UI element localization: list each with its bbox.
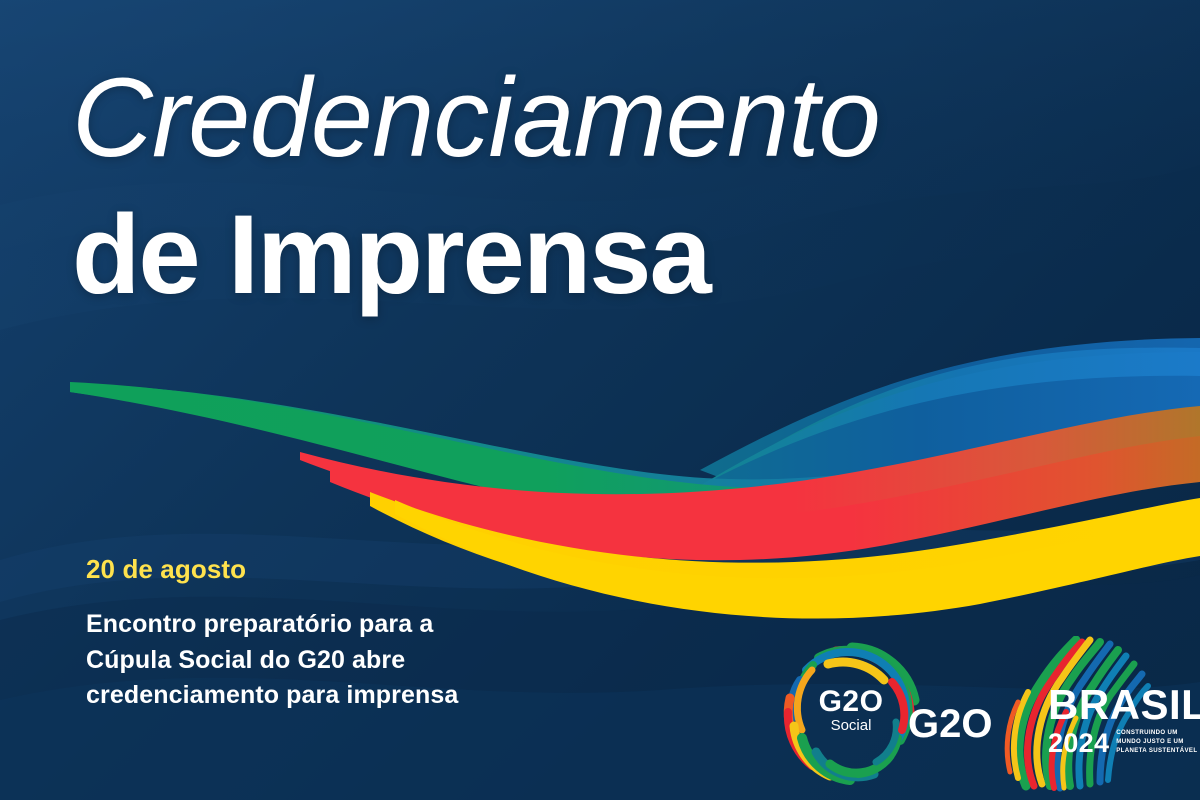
g20-social-wordmark: G2O Social (799, 687, 903, 735)
g20-social-subtitle: Social (799, 718, 903, 735)
caption-block: 20 de agosto Encontro preparatório para … (86, 554, 606, 714)
brasil-country-label: BRASIL (1048, 684, 1200, 726)
brasil-year-label: 2024 (1048, 730, 1109, 757)
description-line-1: Encontro preparatório para a (86, 607, 606, 643)
g20-brasil-wordmark: G2O (908, 704, 992, 744)
press-accreditation-poster: Credenciamento de Imprensa 20 de agosto … (0, 0, 1200, 800)
g20-social-name: G2O (799, 687, 903, 717)
headline-line-1: Credenciamento (72, 62, 1072, 174)
brasil-tagline-line-3: PLANETA SUSTENTÁVEL (1116, 746, 1197, 755)
brasil-tagline-line-1: CONSTRUINDO UM (1116, 728, 1197, 737)
event-description: Encontro preparatório para a Cúpula Soci… (86, 607, 606, 714)
description-line-2: Cúpula Social do G20 abre (86, 643, 606, 679)
headline-block: Credenciamento de Imprensa (72, 62, 1072, 315)
event-date: 20 de agosto (86, 554, 606, 585)
g20-brasil-logo: G2O BRASIL 2024 CONSTRUINDO UM MUNDO JUS… (908, 636, 1198, 796)
brasil-tagline-line-2: MUNDO JUSTO E UM (1116, 737, 1197, 746)
brasil-text-block: BRASIL 2024 CONSTRUINDO UM MUNDO JUSTO E… (1048, 684, 1200, 757)
brasil-tagline: CONSTRUINDO UM MUNDO JUSTO E UM PLANETA … (1116, 728, 1197, 757)
description-line-3: credenciamento para imprensa (86, 678, 606, 714)
headline-line-2: de Imprensa (72, 196, 1072, 315)
